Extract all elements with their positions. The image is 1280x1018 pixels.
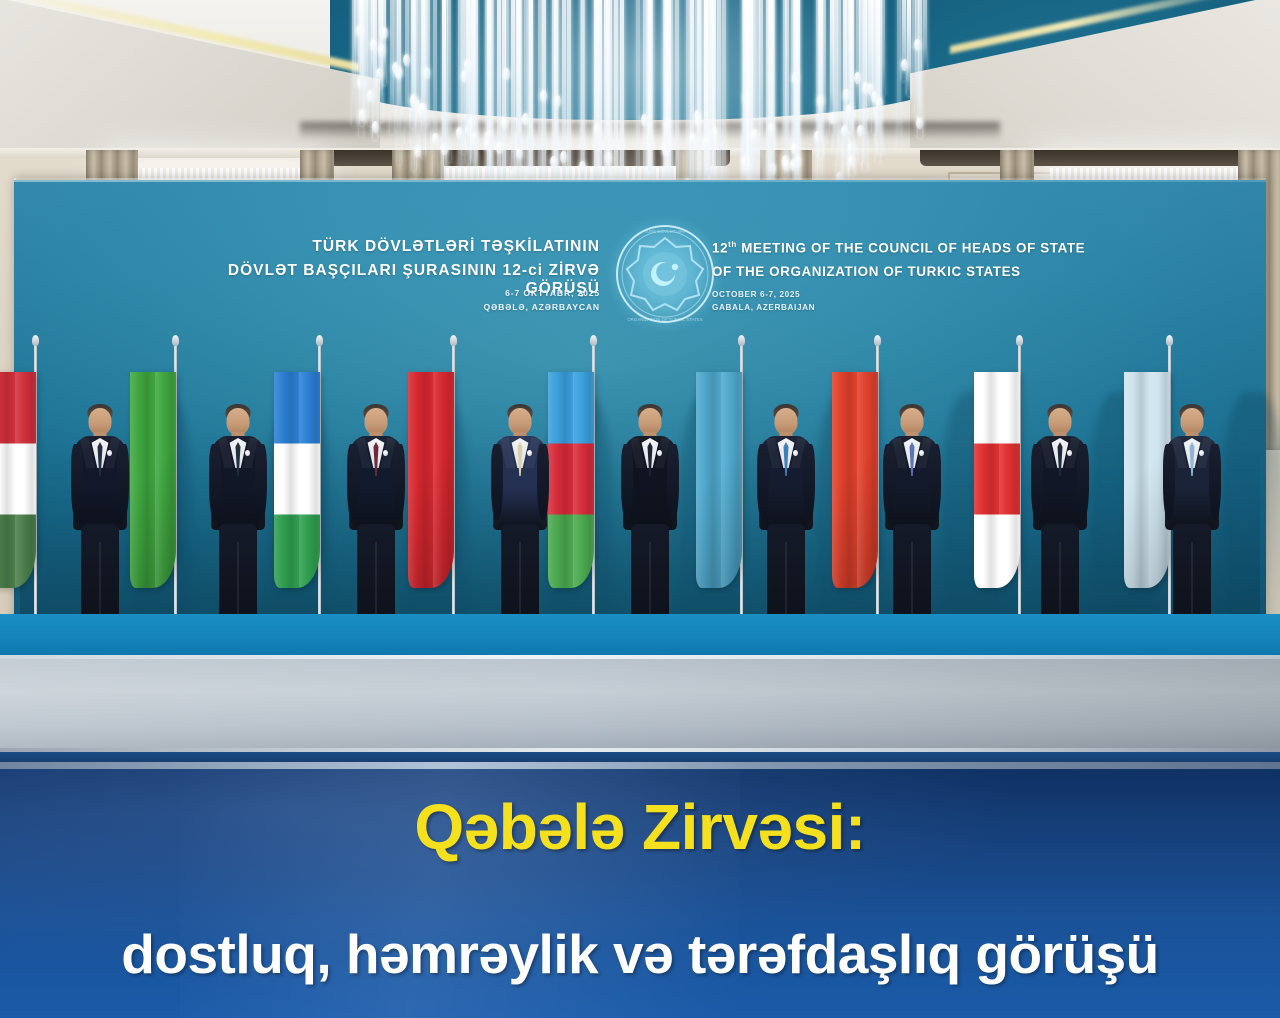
leader-arm-left — [209, 444, 221, 520]
leader-lapel-pin — [527, 450, 532, 456]
backdrop-en-num: 12 — [712, 240, 728, 255]
flagpole-finial — [1016, 335, 1023, 346]
leader-arm-right — [255, 444, 267, 520]
valance-right — [920, 150, 1265, 166]
summit-group-photo: TÜRK DÖVLƏTLƏRİ TƏŞKİLATININ DÖVLƏT BAŞÇ… — [0, 0, 1280, 762]
leader-head — [901, 408, 924, 435]
backdrop-en-line2: OF THE ORGANIZATION OF TURKIC STATES — [712, 264, 1021, 279]
flag-fold — [274, 372, 320, 588]
flagpole-finial — [1166, 335, 1173, 346]
leader-head — [1049, 408, 1072, 435]
leader-head — [89, 408, 112, 435]
leader-lapel-pin — [1067, 450, 1072, 456]
emblem-glow — [607, 216, 723, 332]
kyrgyzstan-flag — [832, 372, 878, 588]
screenshot-root: TÜRK DÖVLƏTLƏRİ TƏŞKİLATININ DÖVLƏT BAŞÇ… — [0, 0, 1280, 1018]
leader-arm-left — [71, 444, 83, 520]
leader-arm-left — [757, 444, 769, 520]
backdrop-top-edge — [14, 178, 1266, 182]
leader-arm-right — [537, 444, 549, 520]
leader-head — [509, 408, 532, 435]
flag-fold — [0, 372, 36, 588]
flag-fold — [408, 372, 454, 588]
leader-arm-right — [803, 444, 815, 520]
leader-arm-right — [1077, 444, 1089, 520]
hungary-flag — [0, 372, 36, 588]
flag-fold — [832, 372, 878, 588]
leader-arm-left — [883, 444, 895, 520]
organization-of-turkic-states-emblem: TÜRK DÖVLƏTLƏRİ ORGANIZATION OF TURKIC S… — [613, 222, 717, 326]
backdrop-az-line1: TÜRK DÖVLƏTLƏRİ TƏŞKİLATININ — [190, 238, 600, 256]
leader-head — [639, 408, 662, 435]
leader-2 — [201, 404, 275, 638]
floor-strip — [0, 752, 1280, 762]
turkiye-flag — [408, 372, 454, 588]
backdrop-az-date: 6-7 OKTYABR, 2025 — [330, 288, 600, 298]
flagpole-finial — [590, 335, 597, 346]
kazakhstan-flag — [696, 372, 742, 588]
leader-head — [365, 408, 388, 435]
leader-5 — [613, 404, 687, 638]
flag-fold — [974, 372, 1020, 588]
flagpole-finial — [450, 335, 457, 346]
stage-apron — [0, 659, 1280, 751]
leader-arm-right — [667, 444, 679, 520]
leader-head — [1181, 408, 1204, 435]
flagpole-finial — [738, 335, 745, 346]
leader-8 — [1023, 404, 1097, 638]
flagpole-finial — [316, 335, 323, 346]
leader-head — [227, 408, 250, 435]
caption-subtitle: dostluq, həmrəylik və tərəfdaşlıq görüşü — [0, 922, 1280, 986]
leader-lapel-pin — [1199, 450, 1204, 456]
backdrop-en-ordinal: th — [728, 240, 737, 249]
leader-7 — [875, 404, 949, 638]
leader-arm-right — [1209, 444, 1221, 520]
leader-arm-left — [1031, 444, 1043, 520]
caption-title: Qəbələ Zirvəsi: — [0, 790, 1280, 864]
flagpole-finial — [32, 335, 39, 346]
backdrop-en-date: OCTOBER 6-7, 2025 — [712, 290, 800, 299]
northern-cyprus-flag — [974, 372, 1020, 588]
uzbekistan-flag — [274, 372, 320, 588]
leader-arm-right — [117, 444, 129, 520]
leader-head — [775, 408, 798, 435]
leader-arm-left — [621, 444, 633, 520]
leader-arm-right — [393, 444, 405, 520]
leader-lapel-pin — [383, 450, 388, 456]
backdrop-en-rest: MEETING OF THE COUNCIL OF HEADS OF STATE — [737, 240, 1085, 255]
leader-lapel-pin — [245, 450, 250, 456]
flag-fold — [696, 372, 742, 588]
leader-arm-left — [491, 444, 503, 520]
leader-lapel-pin — [793, 450, 798, 456]
leader-4 — [483, 404, 557, 638]
flagpole-finial — [172, 335, 179, 346]
flagpole-finial — [874, 335, 881, 346]
leader-1 — [63, 404, 137, 638]
leader-arm-right — [929, 444, 941, 520]
stage-platform-top — [0, 614, 1280, 656]
leader-arm-left — [347, 444, 359, 520]
leader-lapel-pin — [657, 450, 662, 456]
leader-9 — [1155, 404, 1229, 638]
backdrop-en-line1: 12th MEETING OF THE COUNCIL OF HEADS OF … — [712, 240, 1085, 255]
leader-lapel-pin — [919, 450, 924, 456]
leader-lapel-pin — [107, 450, 112, 456]
backdrop-en-place: GABALA, AZERBAIJAN — [712, 303, 815, 312]
leader-3 — [339, 404, 413, 638]
backdrop-az-place: QƏBƏLƏ, AZƏRBAYCAN — [330, 302, 600, 312]
leader-arm-left — [1163, 444, 1175, 520]
leader-6 — [749, 404, 823, 638]
